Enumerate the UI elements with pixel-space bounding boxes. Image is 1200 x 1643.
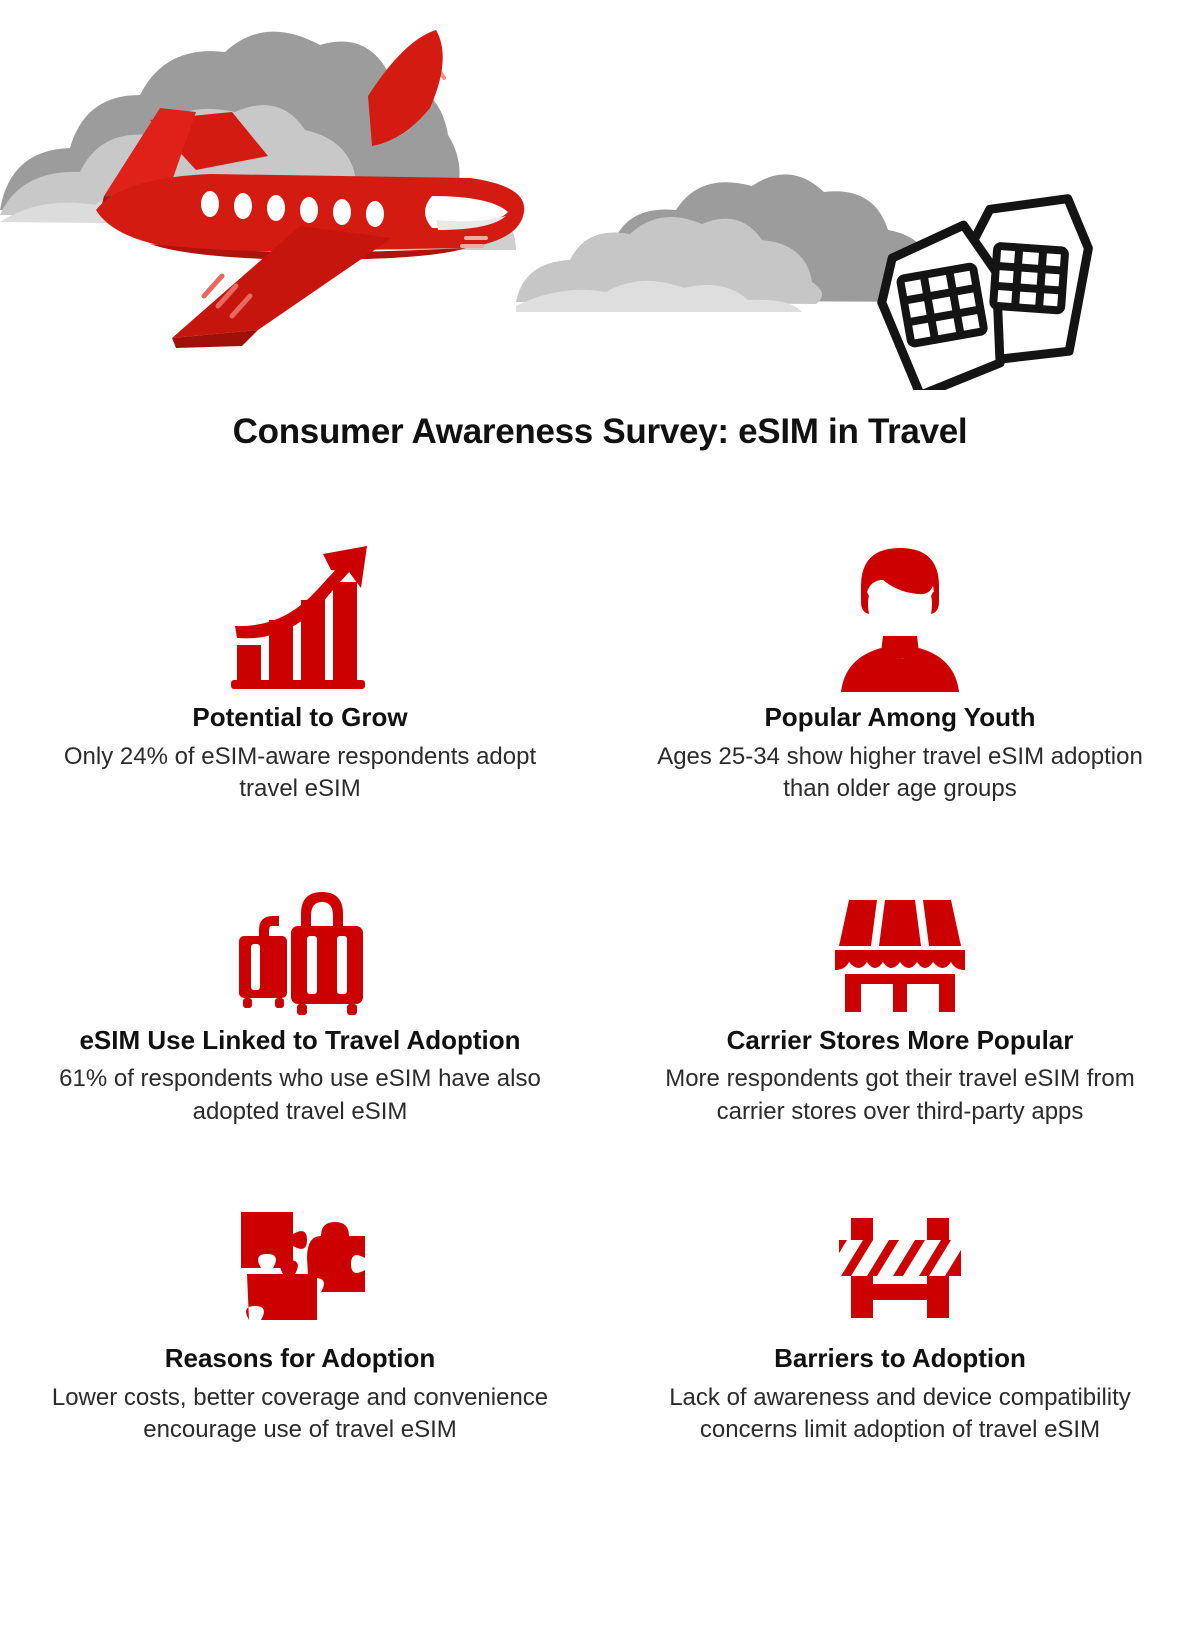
puzzle-pieces-icon [225,1186,375,1336]
card-popular-among-youth: Popular Among Youth Ages 25-34 show high… [600,530,1200,806]
hero-illustration [0,0,1200,390]
card-body: Only 24% of eSIM-aware respondents adopt… [50,741,550,806]
stats-card-grid: Potential to Grow Only 24% of eSIM-aware… [0,530,1200,1447]
card-body: 61% of respondents who use eSIM have als… [50,1063,550,1128]
card-title: Carrier Stores More Popular [727,1024,1074,1058]
growth-bar-chart-icon [225,530,375,695]
card-barriers-to-adoption: Barriers to Adoption Lack of awareness a… [600,1186,1200,1447]
carrier-store-icon [825,868,975,1018]
card-reasons-for-adoption: Reasons for Adoption Lower costs, better… [0,1186,600,1447]
card-body: More respondents got their travel eSIM f… [650,1063,1150,1128]
card-title: Reasons for Adoption [165,1342,436,1376]
page-title-wrap: Consumer Awareness Survey: eSIM in Trave… [0,412,1200,452]
card-potential-to-grow: Potential to Grow Only 24% of eSIM-aware… [0,530,600,806]
card-body: Lower costs, better coverage and conveni… [50,1382,550,1447]
road-barrier-icon [825,1186,975,1336]
luggage-suitcases-icon [225,868,375,1018]
card-title: eSIM Use Linked to Travel Adoption [79,1024,520,1058]
card-title: Barriers to Adoption [774,1342,1026,1376]
card-title: Popular Among Youth [764,701,1035,735]
card-title: Potential to Grow [192,701,407,735]
sim-cards-icon [871,192,1092,390]
card-carrier-stores-more-popular: Carrier Stores More Popular More respond… [600,868,1200,1129]
page-title: Consumer Awareness Survey: eSIM in Trave… [0,412,1200,452]
infographic-page: Consumer Awareness Survey: eSIM in Trave… [0,0,1200,1643]
card-body: Lack of awareness and device compatibili… [650,1382,1150,1447]
youth-person-icon [825,530,975,695]
card-esim-use-linked-to-travel: eSIM Use Linked to Travel Adoption 61% o… [0,868,600,1129]
card-body: Ages 25-34 show higher travel eSIM adopt… [650,741,1150,806]
